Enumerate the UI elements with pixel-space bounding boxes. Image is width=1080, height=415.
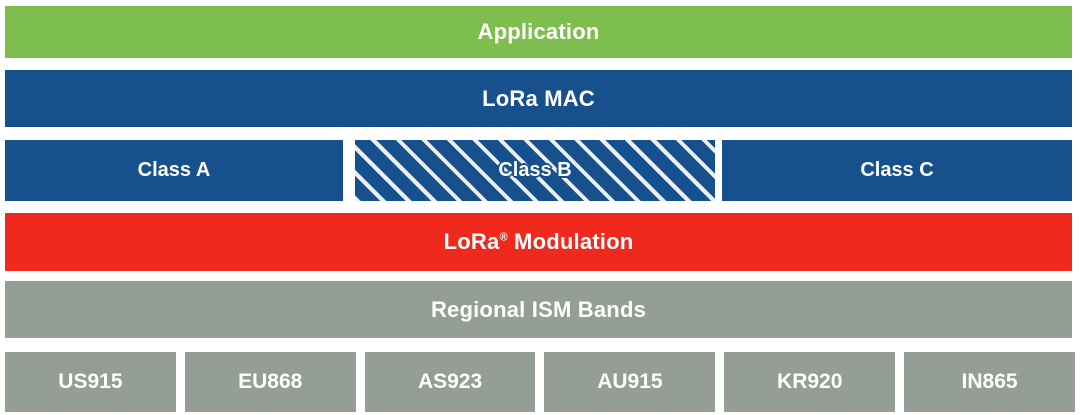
band-label-au915: AU915 bbox=[597, 370, 662, 394]
band-box-kr920: KR920 bbox=[724, 352, 895, 412]
registered-trademark-icon: ® bbox=[499, 232, 507, 244]
class-b-label: Class B bbox=[498, 159, 571, 182]
class-b-box: Class B bbox=[355, 140, 715, 201]
layer-lora-mac-label: LoRa MAC bbox=[482, 88, 595, 110]
lora-wordmark: LoRa bbox=[444, 229, 500, 254]
band-box-in865: IN865 bbox=[904, 352, 1075, 412]
class-c-box: Class C bbox=[722, 140, 1072, 201]
band-box-au915: AU915 bbox=[544, 352, 715, 412]
band-box-as923: AS923 bbox=[365, 352, 536, 412]
layer-lora-modulation-label: LoRa® Modulation bbox=[444, 231, 634, 253]
class-a-box: Class A bbox=[5, 140, 343, 201]
lorawan-protocol-stack-diagram: Application LoRa MAC Class A Class B Cla… bbox=[0, 0, 1080, 415]
layer-regional-ism-bands-label: Regional ISM Bands bbox=[431, 299, 646, 321]
band-label-eu868: EU868 bbox=[238, 370, 302, 394]
layer-regional-ism-bands: Regional ISM Bands bbox=[5, 281, 1072, 338]
band-box-us915: US915 bbox=[5, 352, 176, 412]
band-label-us915: US915 bbox=[58, 370, 122, 394]
layer-application: Application bbox=[5, 6, 1072, 58]
class-a-label: Class A bbox=[138, 159, 211, 182]
band-label-as923: AS923 bbox=[418, 370, 482, 394]
band-label-kr920: KR920 bbox=[777, 370, 842, 394]
band-label-in865: IN865 bbox=[962, 370, 1018, 394]
band-box-eu868: EU868 bbox=[185, 352, 356, 412]
modulation-word: Modulation bbox=[508, 229, 634, 254]
layer-lora-modulation: LoRa® Modulation bbox=[5, 213, 1072, 271]
layer-application-label: Application bbox=[478, 21, 600, 43]
layer-lora-mac: LoRa MAC bbox=[5, 70, 1072, 127]
regional-band-list: US915 EU868 AS923 AU915 KR920 IN865 bbox=[0, 352, 1080, 412]
layer-device-classes: Class A Class B Class C bbox=[0, 140, 1080, 201]
class-c-label: Class C bbox=[860, 159, 933, 182]
